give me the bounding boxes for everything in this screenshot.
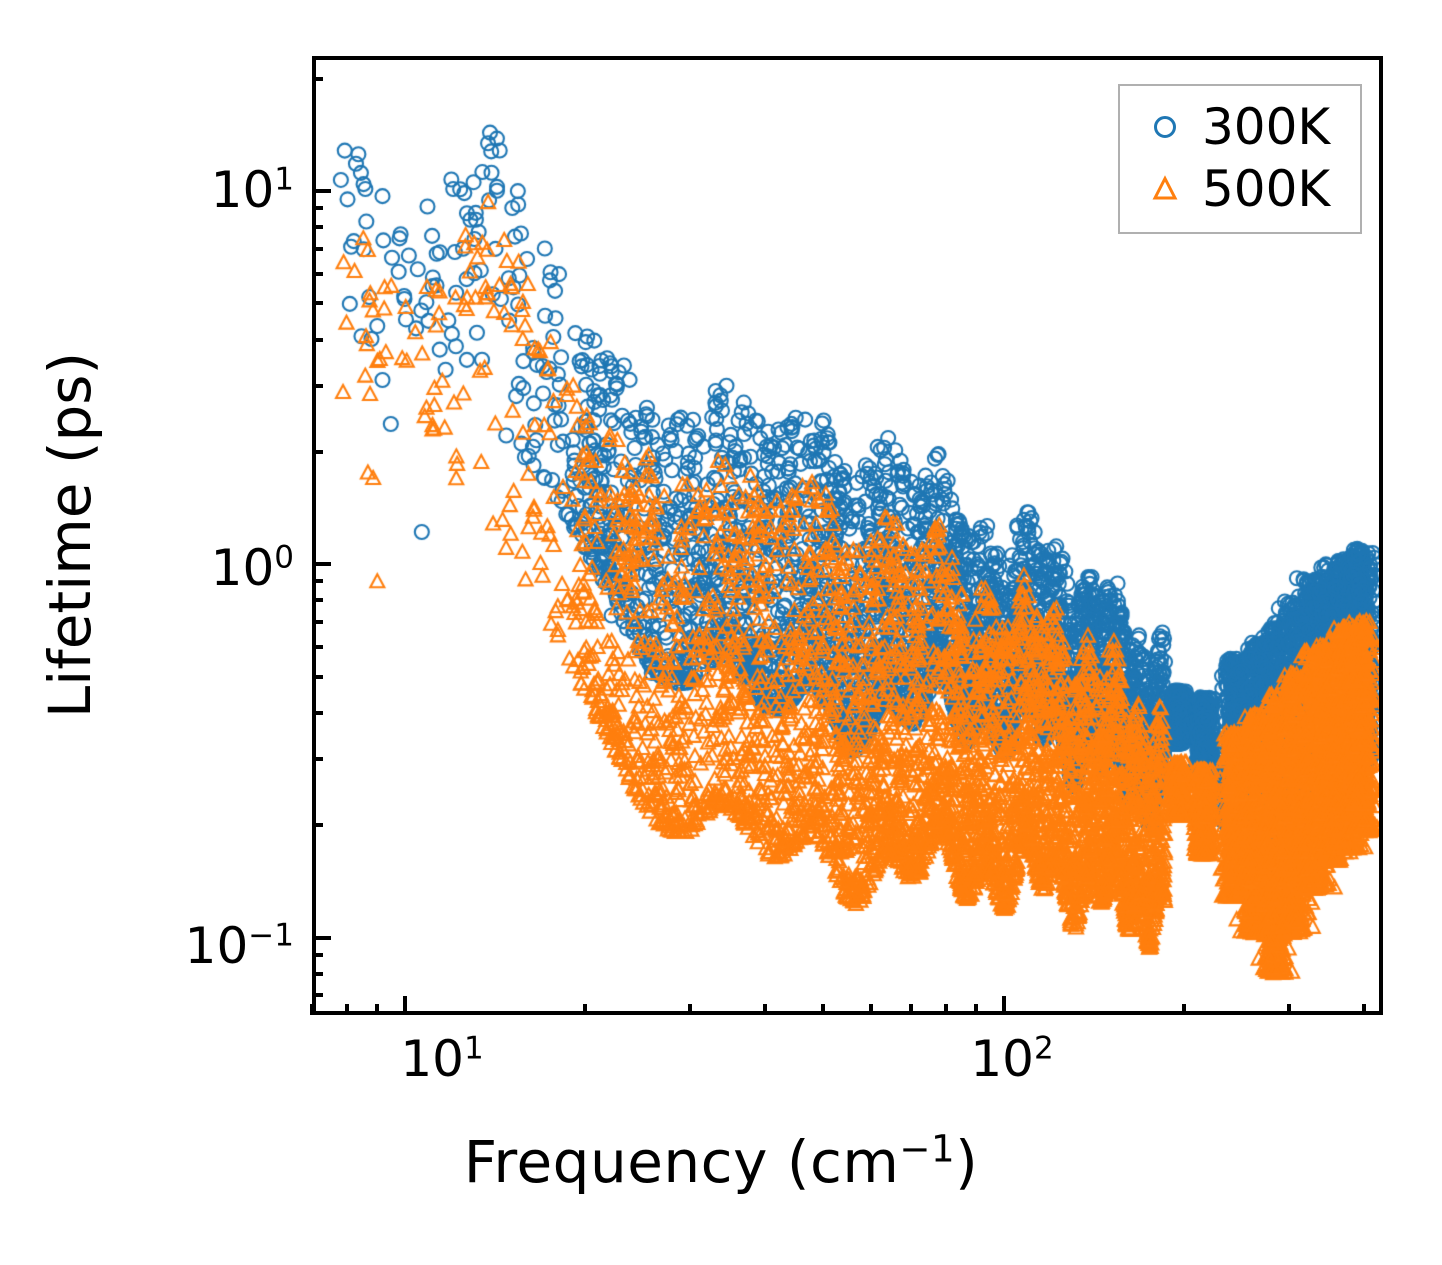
x-tick-minor bbox=[1287, 1004, 1291, 1015]
y-tick-minor bbox=[312, 206, 323, 210]
phonon-lifetime-scatter-figure: 101 100 10−1 101 102 Frequency (cm−1) Li… bbox=[0, 0, 1442, 1265]
y-tick-minor bbox=[312, 247, 323, 251]
y-tick-minor bbox=[312, 225, 323, 229]
y-tick-minor bbox=[312, 579, 323, 583]
y-axis-title-wrapper: Lifetime (ps) bbox=[30, 0, 110, 1071]
y-tick-minor bbox=[312, 953, 323, 957]
x-tick-minor bbox=[944, 1004, 948, 1015]
y-tick-major bbox=[312, 936, 331, 940]
x-tick-minor bbox=[974, 1004, 978, 1015]
x-ticklabel-1e2: 102 bbox=[970, 1030, 1053, 1088]
y-tick-minor bbox=[312, 384, 323, 388]
x-tick-minor bbox=[583, 1004, 587, 1015]
x-ticklabel-1e1: 101 bbox=[400, 1030, 483, 1088]
y-axis-title: Lifetime (ps) bbox=[36, 352, 104, 718]
y-ticklabel-1e0: 100 bbox=[211, 539, 294, 597]
x-tick-minor bbox=[345, 1004, 349, 1015]
open-circle-icon bbox=[1134, 110, 1196, 144]
x-tick-minor bbox=[310, 1004, 314, 1015]
y-tick-minor bbox=[312, 757, 323, 761]
y-tick-minor bbox=[312, 972, 323, 976]
y-tick-minor bbox=[312, 77, 323, 81]
y-ticklabel-1e-1: 10−1 bbox=[185, 917, 294, 975]
y-tick-minor bbox=[312, 993, 323, 997]
legend-entry-300k: 300K bbox=[1134, 96, 1346, 158]
y-tick-minor bbox=[312, 711, 323, 715]
x-tick-major bbox=[1002, 996, 1006, 1015]
x-tick-minor bbox=[821, 1004, 825, 1015]
x-tick-minor bbox=[869, 1004, 873, 1015]
x-tick-minor bbox=[375, 1004, 379, 1015]
legend-label-500k: 500K bbox=[1196, 164, 1330, 214]
y-tick-major bbox=[312, 189, 331, 193]
y-tick-minor bbox=[312, 620, 323, 624]
y-tick-minor bbox=[312, 675, 323, 679]
open-triangle-icon bbox=[1134, 172, 1196, 206]
y-tick-minor bbox=[312, 272, 323, 276]
x-axis-title: Frequency (cm−1) bbox=[0, 1128, 1442, 1196]
x-tick-minor bbox=[1362, 1004, 1366, 1015]
y-ticklabel-1e1: 101 bbox=[211, 161, 294, 219]
y-tick-minor bbox=[312, 338, 323, 342]
y-tick-major bbox=[312, 562, 331, 566]
y-tick-minor bbox=[312, 598, 323, 602]
x-tick-major bbox=[403, 996, 407, 1015]
y-tick-minor bbox=[312, 450, 323, 454]
y-tick-minor bbox=[312, 823, 323, 827]
legend: 300K 500K bbox=[1118, 84, 1362, 234]
x-tick-minor bbox=[1182, 1004, 1186, 1015]
legend-entry-500k: 500K bbox=[1134, 158, 1346, 220]
y-tick-minor bbox=[312, 645, 323, 649]
x-tick-minor bbox=[763, 1004, 767, 1015]
legend-label-300k: 300K bbox=[1196, 102, 1330, 152]
x-tick-minor bbox=[909, 1004, 913, 1015]
y-tick-minor bbox=[312, 301, 323, 305]
x-tick-minor bbox=[688, 1004, 692, 1015]
